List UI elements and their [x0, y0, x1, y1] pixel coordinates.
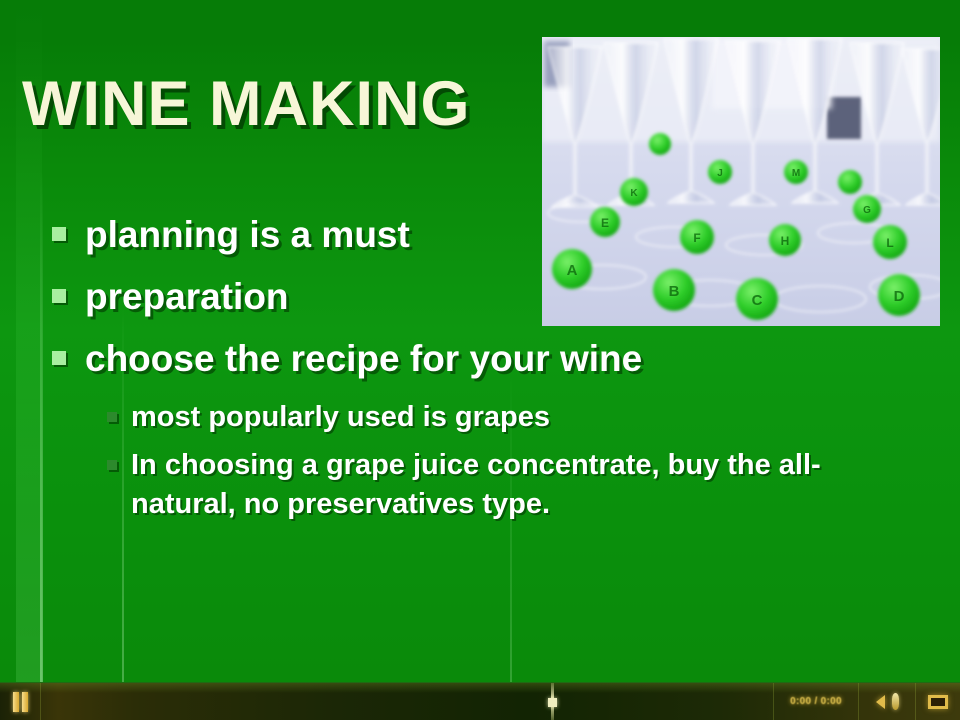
pause-button[interactable]	[0, 683, 40, 720]
bullet-item: choose the recipe for your wine	[52, 336, 932, 381]
bullet-marker-icon	[52, 351, 66, 365]
slide-bullet-list: planning is a must preparation choose th…	[52, 212, 932, 532]
sub-bullet-marker-icon	[107, 412, 117, 422]
player-control-bar: 0:00 / 0:00	[0, 682, 960, 720]
bullet-text: planning is a must	[85, 212, 410, 257]
bullet-text: preparation	[85, 274, 289, 319]
timecode-display: 0:00 / 0:00	[774, 696, 858, 707]
slide-title: WINE MAKING	[22, 68, 470, 140]
sub-bullet-item: most popularly used is grapes	[107, 398, 932, 437]
svg-text:M: M	[792, 168, 800, 179]
video-player: WINE MAKING	[0, 0, 960, 720]
bullet-item: preparation	[52, 274, 932, 319]
svg-text:K: K	[630, 188, 638, 199]
fullscreen-button[interactable]	[916, 683, 960, 720]
sub-bullet-item: In choosing a grape juice concentrate, b…	[107, 446, 932, 523]
svg-text:J: J	[717, 168, 723, 179]
pause-icon	[22, 692, 28, 712]
bullet-marker-icon	[52, 289, 66, 303]
playhead-handle[interactable]	[551, 683, 554, 720]
bullet-marker-icon	[52, 227, 66, 241]
presentation-slide: WINE MAKING	[0, 0, 960, 682]
volume-slider-knob[interactable]	[892, 693, 899, 710]
volume-control[interactable]	[859, 683, 915, 720]
seek-bar[interactable]	[41, 683, 773, 720]
sub-bullet-text: In choosing a grape juice concentrate, b…	[131, 446, 921, 523]
sub-bullet-text: most popularly used is grapes	[131, 398, 550, 437]
fullscreen-icon	[928, 695, 948, 709]
bullet-text: choose the recipe for your wine	[85, 336, 642, 381]
sub-bullet-marker-icon	[107, 460, 117, 470]
pause-icon	[13, 692, 19, 712]
bullet-item: planning is a must	[52, 212, 932, 257]
speaker-icon[interactable]	[876, 695, 885, 709]
